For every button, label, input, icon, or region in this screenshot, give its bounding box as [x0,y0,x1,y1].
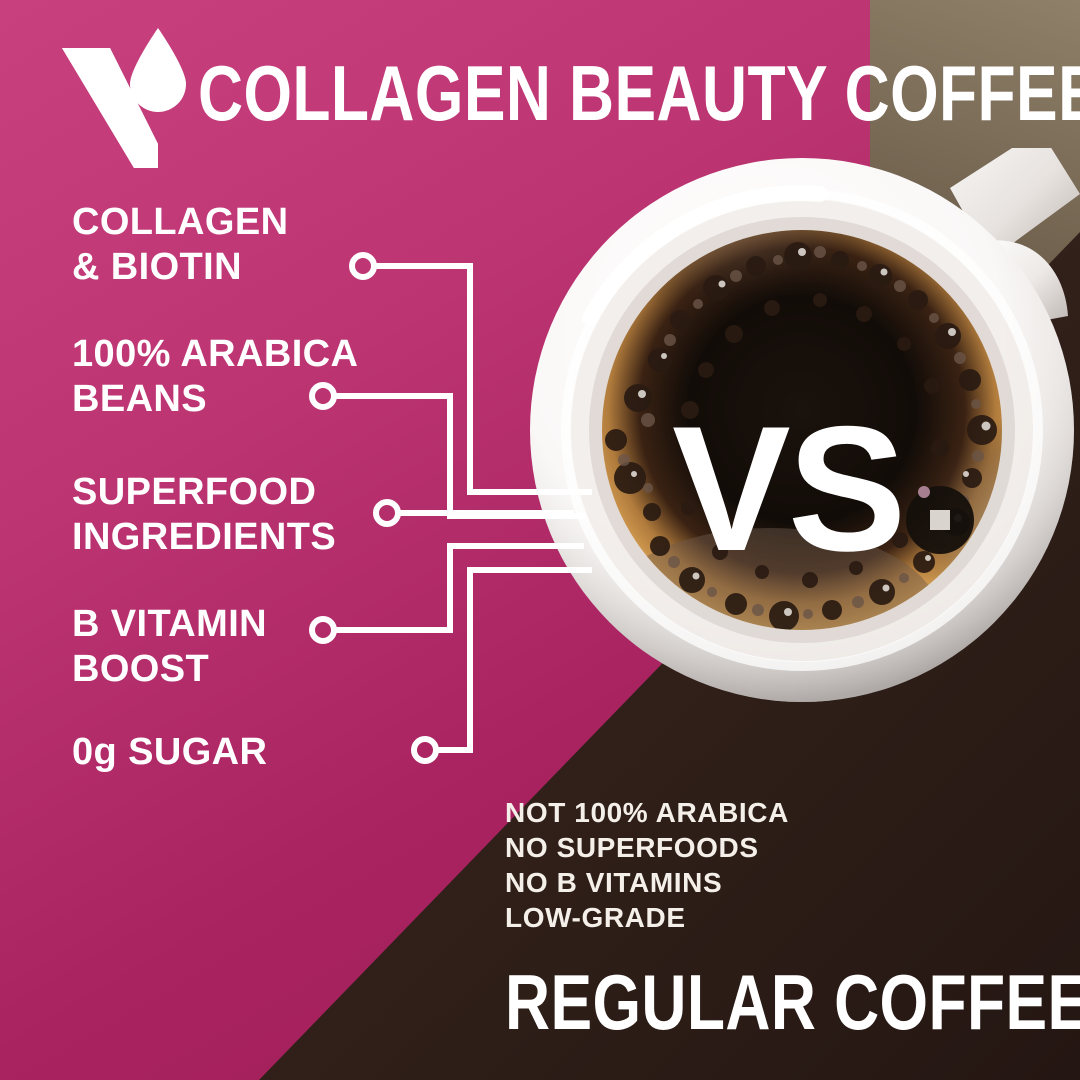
connector-dot [312,619,334,641]
competitor-cons-list: NOT 100% ARABICA NO SUPERFOODS NO B VITA… [505,795,789,935]
connector-dot [352,255,374,277]
feature-label-zero-sugar: 0g SUGAR [72,730,267,775]
feature-label-collagen-biotin: COLLAGEN & BIOTIN [72,200,288,290]
feature-label-b-vitamin: B VITAMIN BOOST [72,602,267,692]
competitor-heading: REGULAR COFFEE [505,958,985,1046]
connector-dot [376,502,398,524]
feature-label-arabica-beans: 100% ARABICA BEANS [72,332,358,422]
connector-dot [414,739,436,761]
versus-label: VS [672,400,903,578]
infographic-canvas: COLLAGEN BEAUTY COFFEE [0,0,1080,1080]
feature-label-superfood: SUPERFOOD INGREDIENTS [72,470,336,560]
